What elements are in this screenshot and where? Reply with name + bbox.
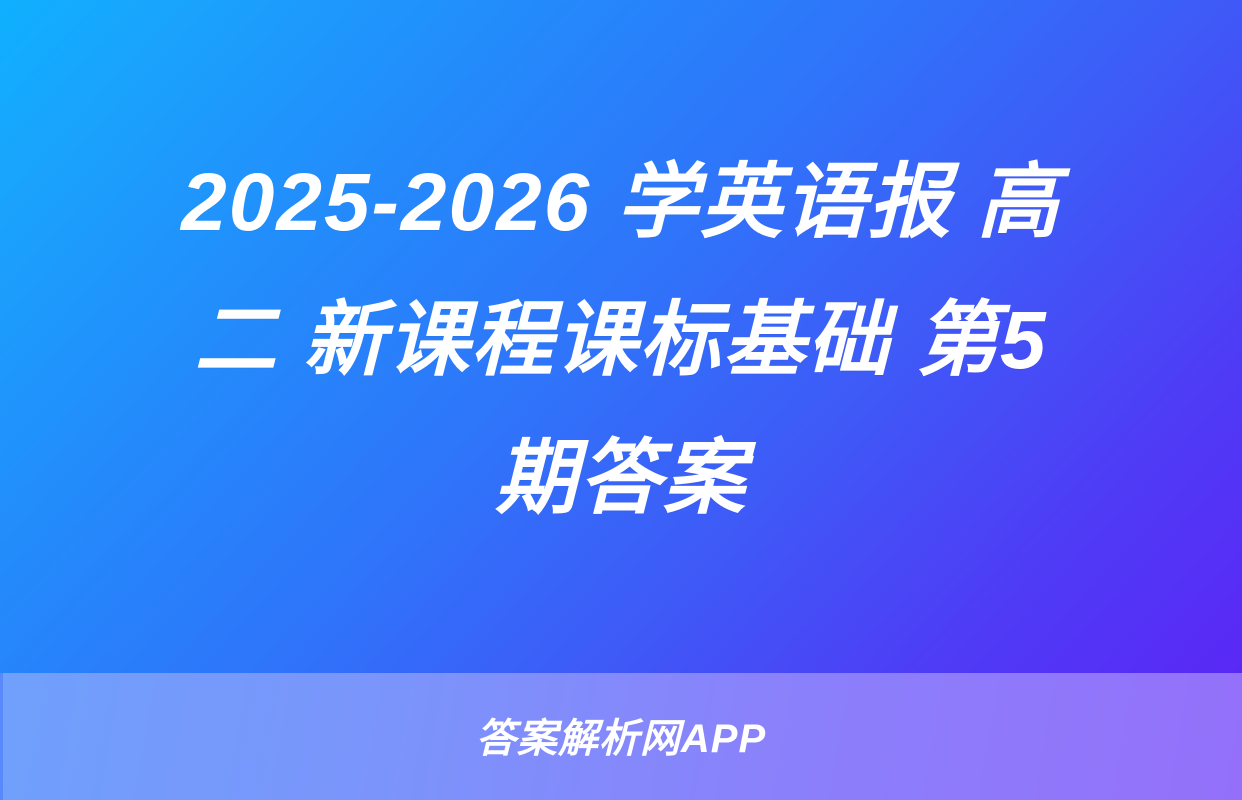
hero-gradient-panel: 2025-2026 学英语报 高 二 新课程课标基础 第5 期答案 xyxy=(0,0,1242,673)
title-line-2: 二 新课程课标基础 第5 xyxy=(82,272,1160,410)
title-line-3: 期答案 xyxy=(82,410,1160,548)
watermark-band: 答案解析网APP xyxy=(0,673,1242,800)
title-line-1: 2025-2026 学英语报 高 xyxy=(82,134,1160,272)
answer-cover-card: 2025-2026 学英语报 高 二 新课程课标基础 第5 期答案 答案解析网A… xyxy=(0,0,1242,800)
watermark-label: 答案解析网APP xyxy=(476,719,766,759)
page-title: 2025-2026 学英语报 高 二 新课程课标基础 第5 期答案 xyxy=(66,134,1176,548)
